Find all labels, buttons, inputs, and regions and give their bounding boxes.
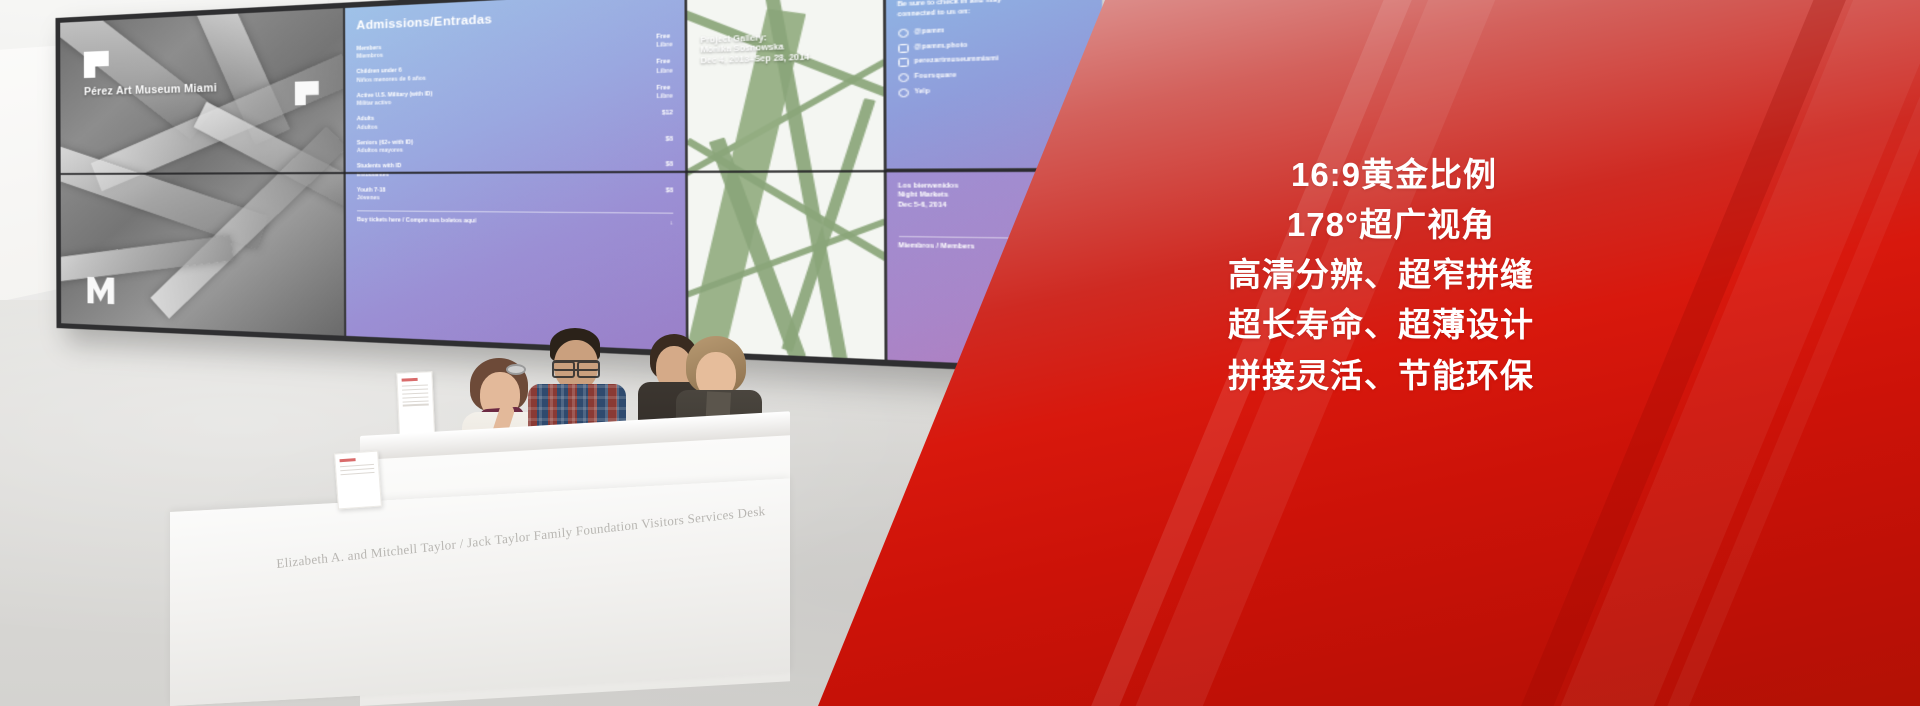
museum-name-line: Pérez xyxy=(84,85,113,98)
admissions-row: Seniors (62+ with ID) Adultos mayores $8 xyxy=(357,136,673,156)
admissions-row: Youth 7-18 Jóvenes $8 xyxy=(357,187,673,205)
social-row: Foursquare xyxy=(898,68,1090,83)
label-es: Jóvenes xyxy=(357,195,386,203)
admissions-label: Members Miembros xyxy=(356,45,383,62)
price-es: Libre xyxy=(656,67,672,76)
admissions-label: Active U.S. Military (with ID) Militar a… xyxy=(357,91,433,109)
feature-line-3: 高清分辨、超窄拼缝 xyxy=(1097,250,1665,300)
video-wall-panel-project-gallery: Project Gallery: Monika Sosnowska Dec 4,… xyxy=(687,0,884,360)
social-handle: @pamm.photo xyxy=(914,41,968,52)
admissions-price: $8 xyxy=(665,136,672,153)
promo-banner: Los bienvenidos Night Markets Dec 5-6, 2… xyxy=(0,0,1920,706)
social-handle: perezartmuseummiami xyxy=(914,55,998,67)
admissions-price: Free Libre xyxy=(656,33,672,51)
price-en: $8 xyxy=(666,187,673,196)
feature-line-4: 超长寿命、超薄设计 xyxy=(1097,300,1665,350)
glasses-icon xyxy=(552,360,600,371)
price-en: Free xyxy=(656,84,672,93)
admissions-footer: Buy tickets here / Compre sus boletos aq… xyxy=(357,211,673,229)
admissions-price: Free Libre xyxy=(656,84,672,102)
social-row: perezartmuseummiami xyxy=(897,52,1089,67)
social-row: Yelp xyxy=(898,84,1090,98)
social-links: @pamm @pamm.photo perezartmuseummiami Fo… xyxy=(897,21,1089,97)
admissions-label: Youth 7-18 Jóvenes xyxy=(357,187,386,203)
project-gallery-caption: Project Gallery: Monika Sosnowska Dec 4,… xyxy=(700,30,872,67)
price-es: Libre xyxy=(656,42,672,51)
label-en: Students with ID xyxy=(357,163,402,171)
admissions-title: Admissions/Entradas xyxy=(356,3,672,36)
admissions-price: $8 xyxy=(666,187,673,204)
price-en: $8 xyxy=(666,162,673,171)
admissions-label: Seniors (62+ with ID) Adultos mayores xyxy=(357,139,413,156)
video-wall-panel-admissions: Admissions/Entradas Members Miembros Fre… xyxy=(345,0,686,351)
membership-headline: Become a member today! Be sure to check … xyxy=(897,0,1089,20)
facebook-icon xyxy=(897,58,908,67)
counter-sign-card xyxy=(334,451,382,510)
admissions-row: Members Miembros Free Libre xyxy=(356,33,672,62)
feature-line-5: 拼接灵活、节能环保 xyxy=(1097,351,1665,401)
label-es: Militar activo xyxy=(357,99,433,109)
social-handle: Foursquare xyxy=(914,72,956,82)
price-es: Libre xyxy=(656,93,672,102)
price-en: $12 xyxy=(662,110,673,119)
pamm-logo-icon xyxy=(84,51,109,78)
admissions-price: Free Libre xyxy=(656,59,672,77)
card-heading xyxy=(340,458,356,462)
social-row: @pamm xyxy=(897,21,1089,38)
pamm-logo: Pérez Art Museum Miami xyxy=(84,46,217,99)
label-es: Niños menores de 6 años xyxy=(357,75,426,85)
footer-es: / Compre sus boletos aquí xyxy=(403,218,477,226)
card-text-line xyxy=(402,392,428,395)
label-es: Miembros xyxy=(356,53,383,62)
museum-name-line: Museum xyxy=(135,83,181,97)
social-handle: Yelp xyxy=(914,88,930,98)
video-wall: Pérez Art Museum Miami Admissions/Entrad… xyxy=(55,0,1103,376)
label-en: Youth 7-18 xyxy=(357,187,386,195)
down-arrow-icon: ↓ xyxy=(670,220,673,229)
feature-list: 16:9黄金比例 178°超广视角 高清分辨、超窄拼缝 超长寿命、超薄设计 拼接… xyxy=(1105,150,1665,401)
twitter-icon xyxy=(897,28,908,37)
social-row: @pamm.photo xyxy=(897,37,1089,53)
card-heading xyxy=(402,378,418,382)
admissions-label: Children under 6 Niños menores de 6 años xyxy=(357,67,426,85)
admissions-price: $12 xyxy=(662,110,673,128)
card-text-line xyxy=(403,400,429,403)
admissions-row: Adults Adultos $12 xyxy=(357,110,673,132)
instagram-icon xyxy=(897,43,908,52)
label-es: Adultos mayores xyxy=(357,147,413,156)
yelp-icon xyxy=(898,88,909,97)
buy-tickets-text: Buy tickets here / Compre sus boletos aq… xyxy=(357,217,476,226)
card-text-line xyxy=(402,388,428,391)
footer-en: Buy tickets here xyxy=(357,217,401,224)
price-en: $8 xyxy=(665,136,672,145)
foursquare-icon xyxy=(898,73,909,82)
social-handle: @pamm xyxy=(914,27,944,37)
label-es: Adultos xyxy=(357,124,378,132)
museum-name-line: Miami xyxy=(184,82,217,96)
card-text-line xyxy=(402,384,428,387)
admissions-row: Children under 6 Niños menores de 6 años… xyxy=(357,59,673,86)
feature-line-2: 178°超广视角 xyxy=(1117,200,1665,250)
museum-name-line: Art xyxy=(116,85,132,98)
admissions-label: Adults Adultos xyxy=(357,116,378,132)
pamm-m-letter-icon xyxy=(87,277,114,304)
feature-line-1: 16:9黄金比例 xyxy=(1123,150,1665,200)
card-text-line xyxy=(341,472,375,476)
admissions-row: Active U.S. Military (with ID) Militar a… xyxy=(357,84,673,108)
card-text-line xyxy=(403,404,429,407)
card-text-line xyxy=(402,396,428,399)
